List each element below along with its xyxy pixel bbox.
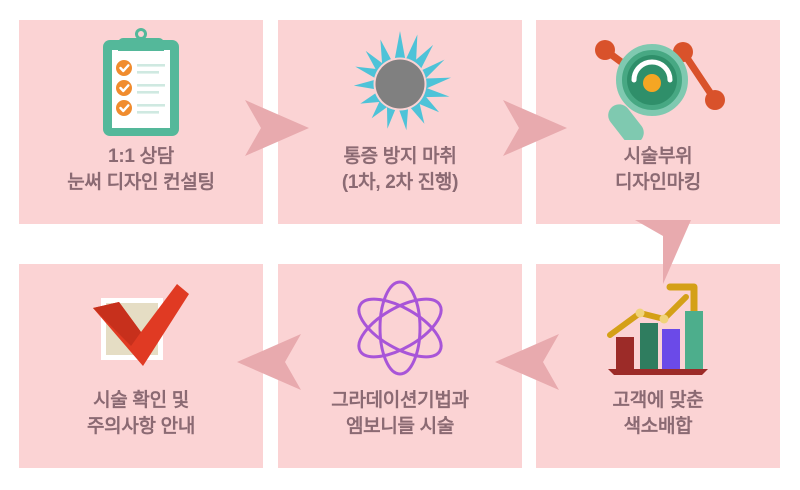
- step-label-6: 시술 확인 및 주의사항 안내: [81, 388, 201, 439]
- arrow-step5-to-step6: [237, 332, 303, 392]
- arrow-step4-to-step5: [495, 332, 561, 392]
- atom-orbit-icon: [278, 264, 522, 388]
- arrow-step2-to-step3: [501, 98, 567, 158]
- step-label-4: 고객에 맞춘 색소배합: [607, 388, 710, 439]
- step-card-4-pigment-mix: 고객에 맞춘 색소배합: [536, 264, 780, 468]
- step-card-6-confirmation: 시술 확인 및 주의사항 안내: [19, 264, 263, 468]
- step-card-3-design-marking: 시술부위 디자인마킹: [536, 20, 780, 224]
- step-card-2-anesthesia: 통증 방지 마취 (1차, 2차 진행): [278, 20, 522, 224]
- arrow-step1-to-step2: [243, 98, 309, 158]
- step-card-1-consultation: 1:1 상담 눈써 디자인 컨설팅: [19, 20, 263, 224]
- step-card-5-gradation-technique: 그라데이션기법과 엠보니들 시술: [278, 264, 522, 468]
- magnifier-graph-marking-icon: [536, 20, 780, 144]
- red-checkmark-box-icon: [19, 264, 263, 388]
- sun-burst-anesthesia-icon: [278, 20, 522, 144]
- step-label-1: 1:1 상담 눈써 디자인 컨설팅: [61, 144, 220, 195]
- step-label-3: 시술부위 디자인마킹: [609, 144, 707, 195]
- clipboard-checklist-icon: [19, 20, 263, 144]
- step-label-2: 통증 방지 마취 (1차, 2차 진행): [336, 144, 464, 195]
- arrow-step3-to-step4: [633, 218, 693, 284]
- process-flow-infographic: 1:1 상담 눈써 디자인 컨설팅: [0, 0, 800, 490]
- step-label-5: 그라데이션기법과 엠보니들 시술: [325, 388, 474, 439]
